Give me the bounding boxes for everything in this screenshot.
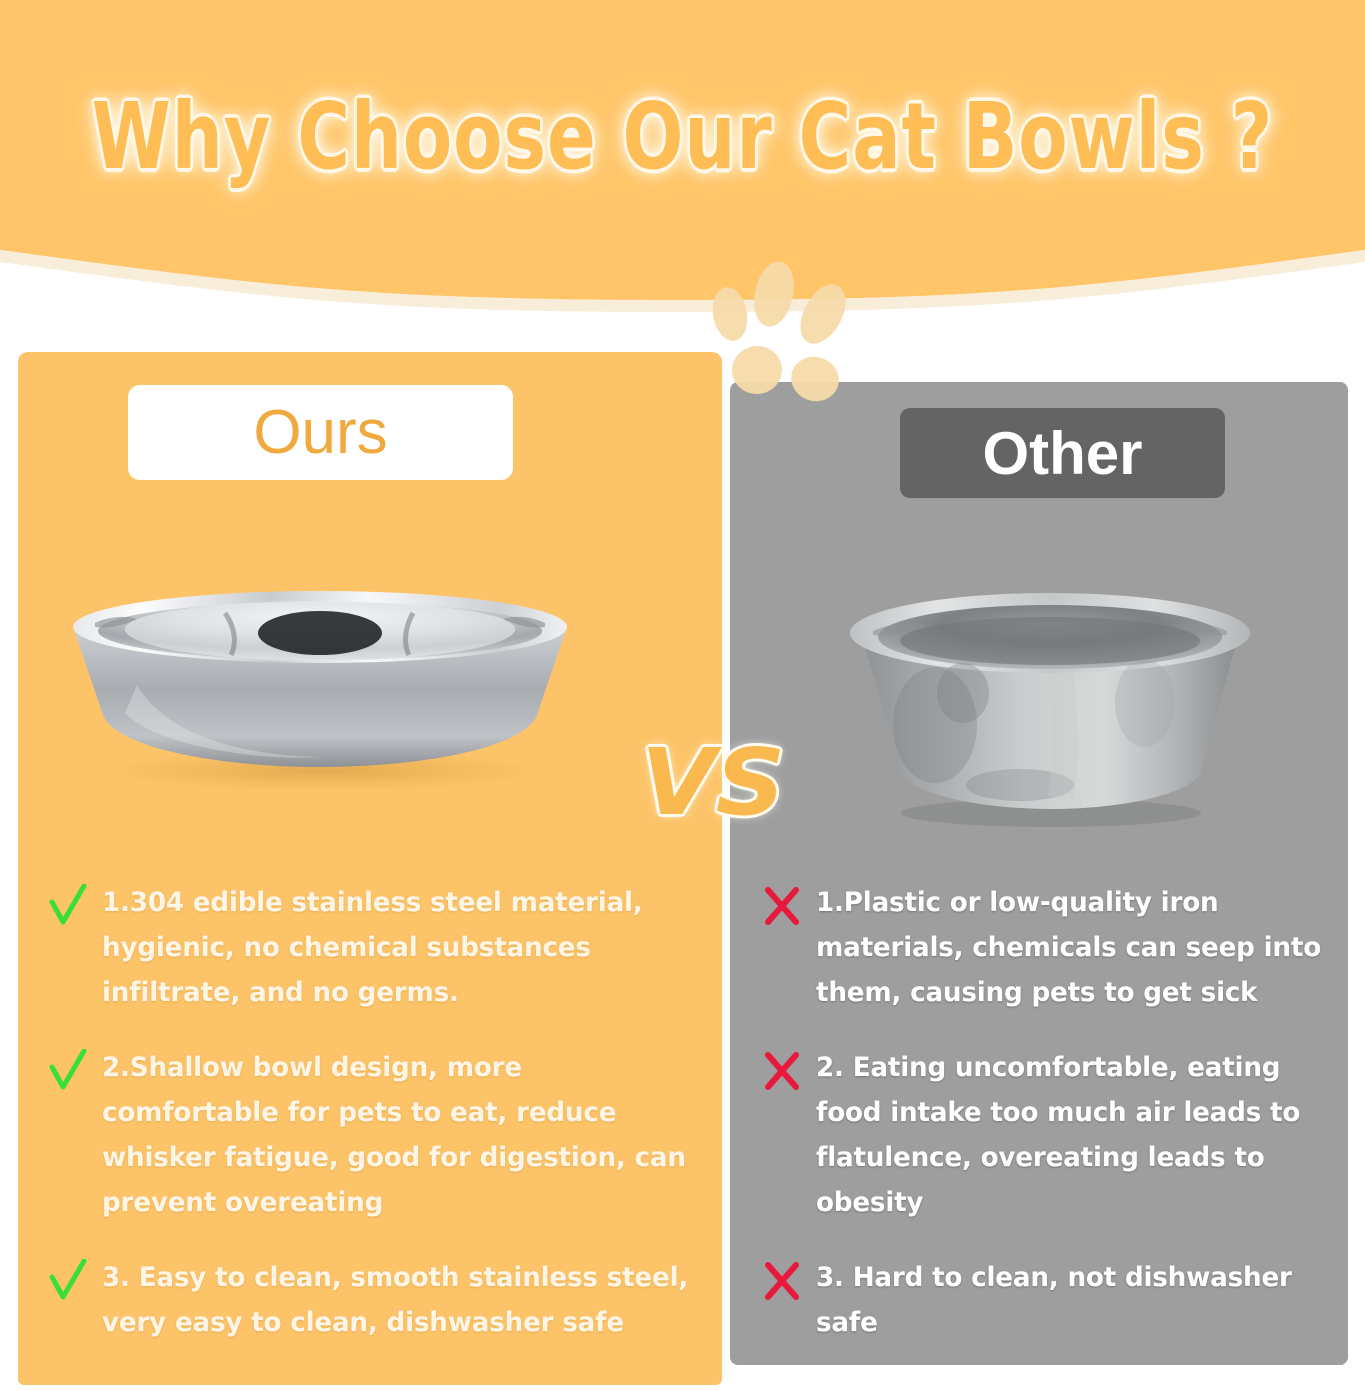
list-item: 3. Hard to clean, not dishwasher safe <box>762 1255 1342 1345</box>
list-item: 1.Plastic or low-quality iron materials,… <box>762 880 1342 1015</box>
header-banner: Why Choose Our Cat Bowls ? <box>0 0 1365 340</box>
red-cross-icon <box>762 884 802 928</box>
ours-badge-label: Ours <box>253 397 387 468</box>
red-cross-icon <box>762 1049 802 1093</box>
paw-print-icon <box>690 252 890 402</box>
list-item: 2.Shallow bowl design, more comfortable … <box>48 1045 708 1225</box>
ours-feature-list: 1.304 edible stainless steel material, h… <box>48 880 708 1375</box>
list-item-text: 3. Hard to clean, not dishwasher safe <box>816 1255 1326 1345</box>
other-badge: Other <box>900 408 1225 498</box>
list-item: 2. Eating uncomfortable, eating food int… <box>762 1045 1342 1225</box>
infographic-poster: Why Choose Our Cat Bowls ? Ours <box>0 0 1365 1390</box>
list-item-text: 2. Eating uncomfortable, eating food int… <box>816 1045 1326 1225</box>
red-cross-icon <box>762 1259 802 1303</box>
list-item-text: 1.Plastic or low-quality iron materials,… <box>816 880 1326 1015</box>
other-feature-list: 1.Plastic or low-quality iron materials,… <box>762 880 1342 1375</box>
header-arc-shape <box>0 0 1365 340</box>
green-check-icon <box>48 884 88 928</box>
green-check-icon <box>48 1259 88 1303</box>
list-item-text: 3. Easy to clean, smooth stainless steel… <box>102 1255 690 1345</box>
list-item-text: 1.304 edible stainless steel material, h… <box>102 880 690 1015</box>
ours-badge: Ours <box>128 385 513 480</box>
other-badge-label: Other <box>982 419 1142 488</box>
green-check-icon <box>48 1049 88 1093</box>
list-item: 3. Easy to clean, smooth stainless steel… <box>48 1255 708 1345</box>
list-item-text: 2.Shallow bowl design, more comfortable … <box>102 1045 690 1225</box>
ours-bowl-image <box>55 565 585 790</box>
list-item: 1.304 edible stainless steel material, h… <box>48 880 708 1015</box>
other-bowl-image <box>815 575 1285 835</box>
